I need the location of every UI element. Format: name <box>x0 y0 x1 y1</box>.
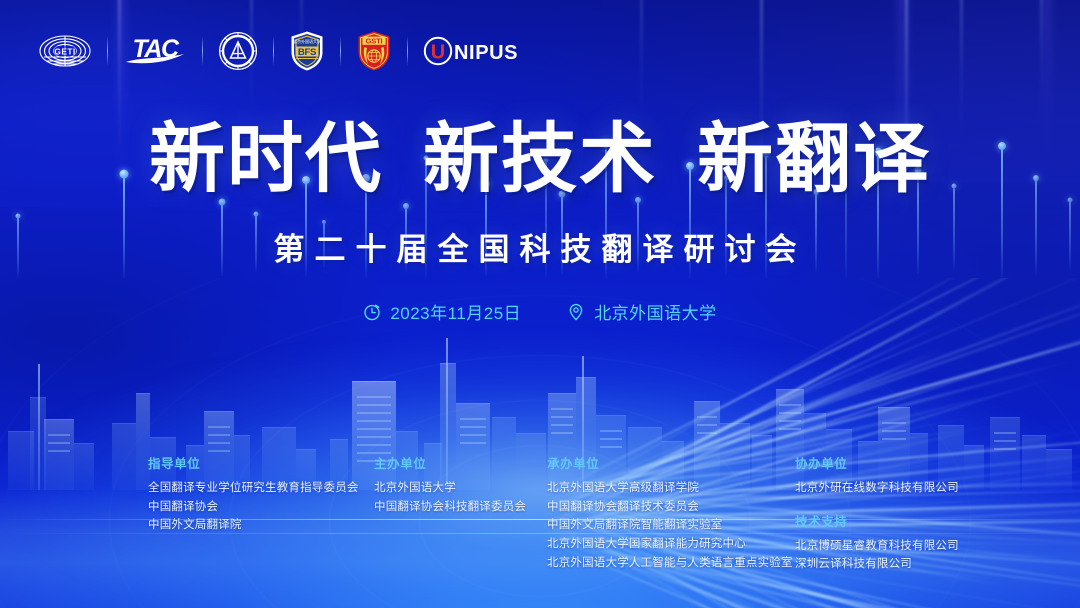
main-title-part-2: 新技术 <box>423 117 657 202</box>
footer-column-support: 协办单位 北京外研在线数字科技有限公司 技术支持 北京博硕星睿教育科技有限公司 … <box>795 453 959 574</box>
geti-logo: GETI <box>38 31 92 71</box>
svg-text:北京外国语大学: 北京外国语大学 <box>293 38 321 44</box>
footer-column-guidance: 指导单位 全国翻译专业学位研究生教育指导委员会 中国翻译协会 中国外文局翻译院 <box>148 453 374 535</box>
footer-item: 全国翻译专业学位研究生教育指导委员会 <box>148 479 374 498</box>
logo-divider <box>107 36 108 66</box>
clock-icon <box>363 303 381 321</box>
conference-poster: GETI TAC <box>0 0 1080 608</box>
main-title-part-1: 新时代 <box>149 117 383 202</box>
footer-item: 北京外国语大学人工智能与人类语言重点实验室 <box>547 554 795 573</box>
bfs-shield-logo: 北京外国语大学 BFS <box>289 30 325 72</box>
footer-heading-tech-support: 技术支持 <box>795 511 959 530</box>
footer-item: 北京外国语大学高级翻译学院 <box>547 479 795 498</box>
footer-column-host: 主办单位 北京外国语大学 中国翻译协会科技翻译委员会 <box>374 453 547 516</box>
svg-text:NIPUS: NIPUS <box>454 42 518 64</box>
gsti-shield-logo: GSTI <box>356 30 392 72</box>
footer-heading: 指导单位 <box>148 453 374 472</box>
svg-text:GSTI: GSTI <box>366 36 383 45</box>
svg-text:BFS: BFS <box>298 47 317 58</box>
location-pin-icon <box>567 303 585 321</box>
logo-divider <box>202 36 203 66</box>
footer-heading: 主办单位 <box>374 453 547 472</box>
event-location-text: 北京外国语大学 <box>594 299 717 324</box>
svg-text:U: U <box>431 42 445 64</box>
footer-heading: 承办单位 <box>547 453 795 472</box>
sponsor-logo-bar: GETI TAC <box>38 30 527 72</box>
bfsu-gsti-logo <box>218 31 258 71</box>
title-block: 新时代新技术新翻译 第二十届全国科技翻译研讨会 2023年11月25日 <box>0 122 1080 324</box>
footer-heading: 协办单位 <box>795 453 959 472</box>
footer-item: 深圳云译科技有限公司 <box>795 555 959 574</box>
footer-item: 北京外研在线数字科技有限公司 <box>795 479 959 498</box>
footer-item: 北京外国语大学国家翻译能力研究中心 <box>547 535 795 554</box>
footer-item: 中国翻译协会翻译技术委员会 <box>547 498 795 517</box>
footer-item: 中国外文局翻译院 <box>148 516 374 535</box>
logo-divider <box>273 36 274 66</box>
footer-item: 中国翻译协会 <box>148 498 374 517</box>
logo-divider <box>340 36 341 66</box>
footer-column-organizer: 承办单位 北京外国语大学高级翻译学院 中国翻译协会翻译技术委员会 中国外文局翻译… <box>547 453 795 572</box>
footer-item: 北京博硕星睿教育科技有限公司 <box>795 537 959 556</box>
event-meta: 2023年11月25日 北京外国语大学 <box>0 299 1080 324</box>
svg-text:GETI: GETI <box>54 46 75 56</box>
main-title-part-3: 新翻译 <box>697 117 931 202</box>
main-title: 新时代新技术新翻译 <box>0 122 1080 198</box>
footer-item: 北京外国语大学 <box>374 479 547 498</box>
event-date-text: 2023年11月25日 <box>390 299 521 324</box>
tac-logo: TAC <box>123 31 187 71</box>
footer-item: 中国外文局翻译院智能翻译实验室 <box>547 516 795 535</box>
event-location: 北京外国语大学 <box>567 299 717 324</box>
unipus-logo: U NIPUS <box>423 34 527 68</box>
event-date: 2023年11月25日 <box>363 299 521 324</box>
sub-title: 第二十届全国科技翻译研讨会 <box>0 224 1080 269</box>
logo-divider <box>407 36 408 66</box>
footer-organizations: 指导单位 全国翻译专业学位研究生教育指导委员会 中国翻译协会 中国外文局翻译院 … <box>0 453 1080 574</box>
footer-item: 中国翻译协会科技翻译委员会 <box>374 498 547 517</box>
